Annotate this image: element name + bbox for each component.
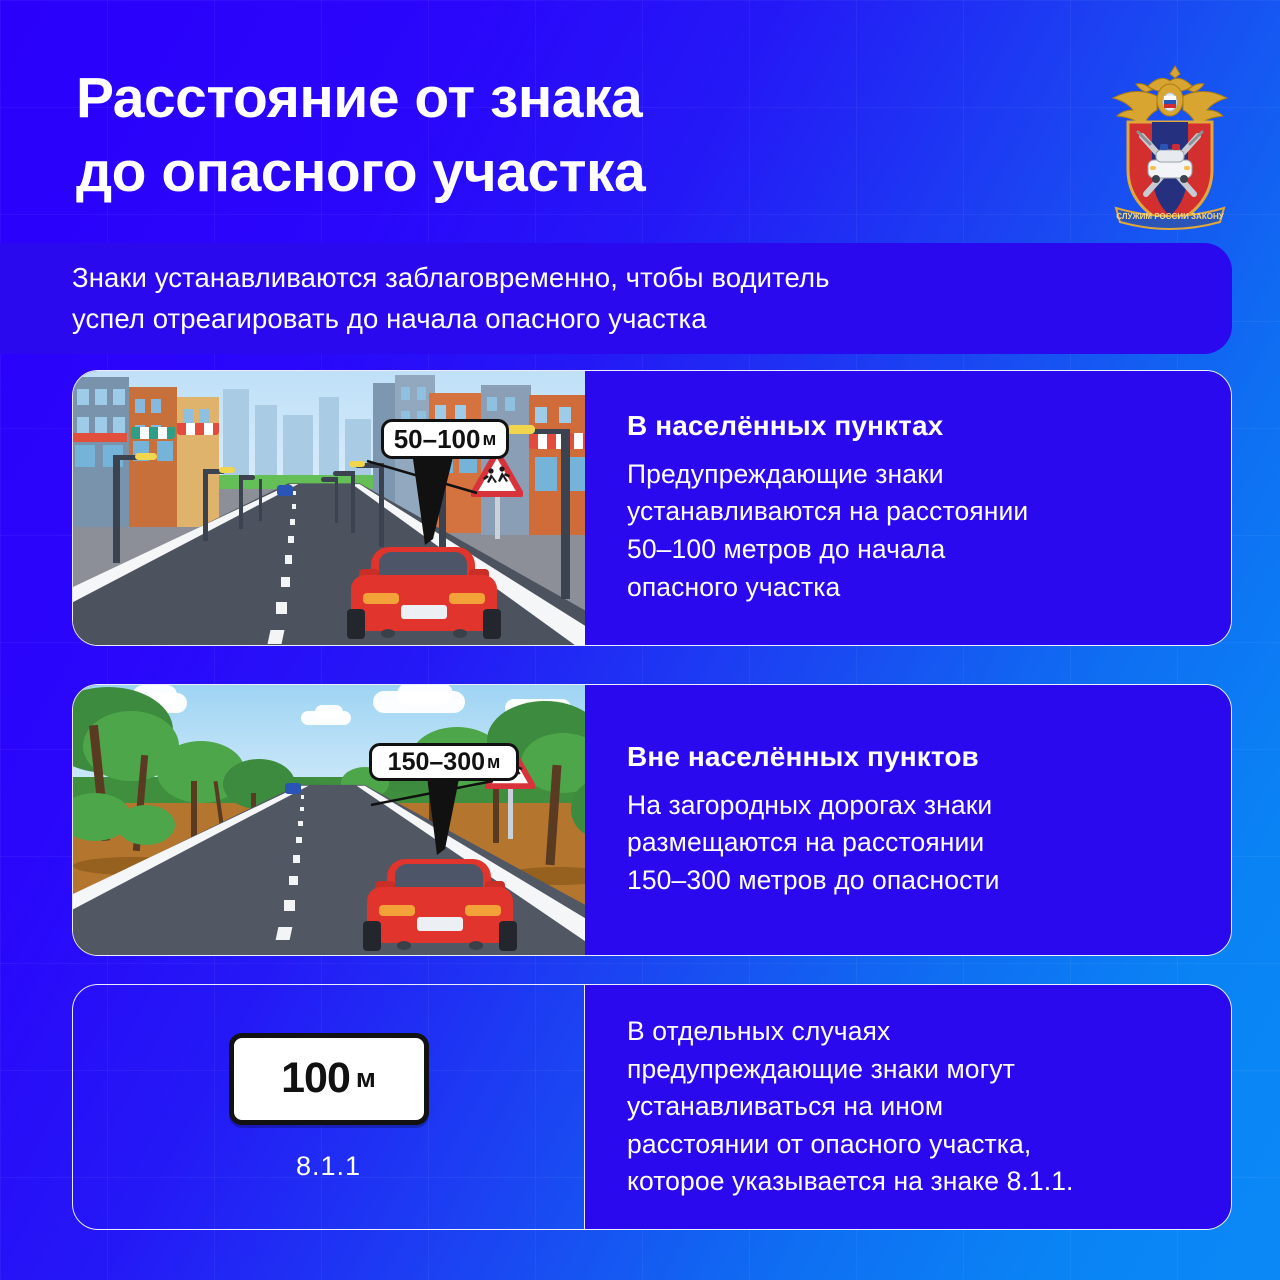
subtitle-line-2: успел отреагировать до начала опасного у…	[72, 299, 830, 340]
card-sign-8-1-1: 100 м 8.1.1 В отдельных случаях предупре…	[72, 984, 1232, 1230]
sign-8-1-1-panel: 100 м 8.1.1	[73, 985, 585, 1229]
gibdd-emblem: СЛУЖИМ РОССИИ ЗАКОНУ	[1086, 52, 1254, 237]
page-title-line-2: до опасного участка	[76, 136, 916, 210]
card-in-settlements: 50–100м	[72, 370, 1232, 646]
red-car-city	[343, 547, 505, 645]
subtitle-text: Знаки устанавливаются заблаговременно, ч…	[0, 258, 870, 339]
body-line-4: расстоянии от опасного участка,	[627, 1126, 1193, 1164]
body-line-5: которое указывается на знаке 8.1.1.	[627, 1163, 1193, 1201]
road-sign-8-1-1: 100 м	[229, 1033, 429, 1125]
distance-value-city: 50–100	[394, 424, 481, 455]
body-line-2: предупреждающие знаки могут	[627, 1051, 1193, 1089]
card-text-in-settlements: В населённых пунктах Предупреждающие зна…	[585, 371, 1231, 645]
body-line-1: В отдельных случаях	[627, 1013, 1193, 1051]
page-title-line-1: Расстояние от знака	[76, 62, 916, 136]
body-line-1: Предупреждающие знаки	[627, 456, 1193, 494]
card-text-outside-settlements: Вне населённых пунктов На загородных дор…	[585, 685, 1231, 955]
body-line-3: устанавливаться на ином	[627, 1088, 1193, 1126]
distance-unit-rural: м	[487, 752, 500, 773]
distance-value-rural: 150–300	[388, 748, 485, 777]
illustration-rural-road: 150–300м	[73, 685, 585, 955]
card-heading-in-settlements: В населённых пунктах	[627, 410, 1193, 442]
body-line-4: опасного участка	[627, 569, 1193, 607]
body-line-1: На загородных дорогах знаки	[627, 787, 1193, 825]
distance-unit-city: м	[482, 428, 496, 450]
distance-label-rural: 150–300м	[369, 743, 519, 781]
sign-distance-unit: м	[356, 1063, 376, 1094]
red-car-rural	[359, 859, 521, 955]
card-body-sign-8-1-1: В отдельных случаях предупреждающие знак…	[627, 1013, 1193, 1201]
page-title: Расстояние от знака до опасного участка	[76, 62, 916, 209]
subtitle-line-1: Знаки устанавливаются заблаговременно, ч…	[72, 258, 830, 299]
card-text-sign-8-1-1: В отдельных случаях предупреждающие знак…	[585, 985, 1231, 1229]
body-line-3: 150–300 метров до опасности	[627, 862, 1193, 900]
distance-label-city: 50–100м	[381, 419, 509, 459]
card-body-in-settlements: Предупреждающие знаки устанавливаются на…	[627, 456, 1193, 607]
illustration-city-street: 50–100м	[73, 371, 585, 645]
sign-number-caption: 8.1.1	[296, 1151, 361, 1182]
card-heading-outside-settlements: Вне населённых пунктов	[627, 741, 1193, 773]
card-body-outside-settlements: На загородных дорогах знаки размещаются …	[627, 787, 1193, 900]
body-line-2: устанавливаются на расстоянии	[627, 493, 1193, 531]
sign-distance-value: 100	[281, 1054, 350, 1103]
svg-text:СЛУЖИМ РОССИИ ЗАКОНУ: СЛУЖИМ РОССИИ ЗАКОНУ	[1116, 212, 1224, 221]
subtitle-banner: Знаки устанавливаются заблаговременно, ч…	[0, 243, 1232, 354]
card-outside-settlements: 150–300м	[72, 684, 1232, 956]
body-line-2: размещаются на расстоянии	[627, 824, 1193, 862]
body-line-3: 50–100 метров до начала	[627, 531, 1193, 569]
